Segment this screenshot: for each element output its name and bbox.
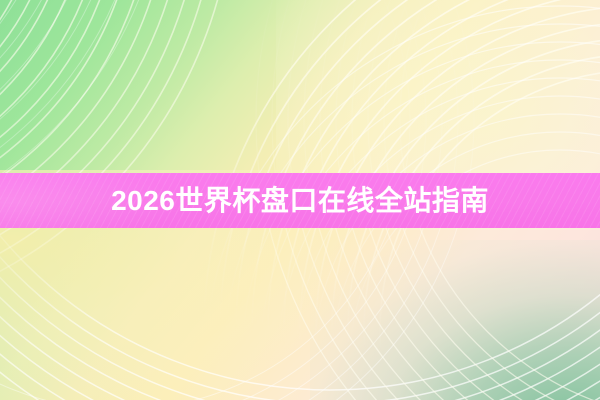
title-banner: 2026世界杯盘口在线全站指南 <box>0 173 600 228</box>
page-title: 2026世界杯盘口在线全站指南 <box>111 187 489 215</box>
background-highlight-green-corner <box>310 240 600 400</box>
poster-canvas: 2026世界杯盘口在线全站指南 <box>0 0 600 400</box>
